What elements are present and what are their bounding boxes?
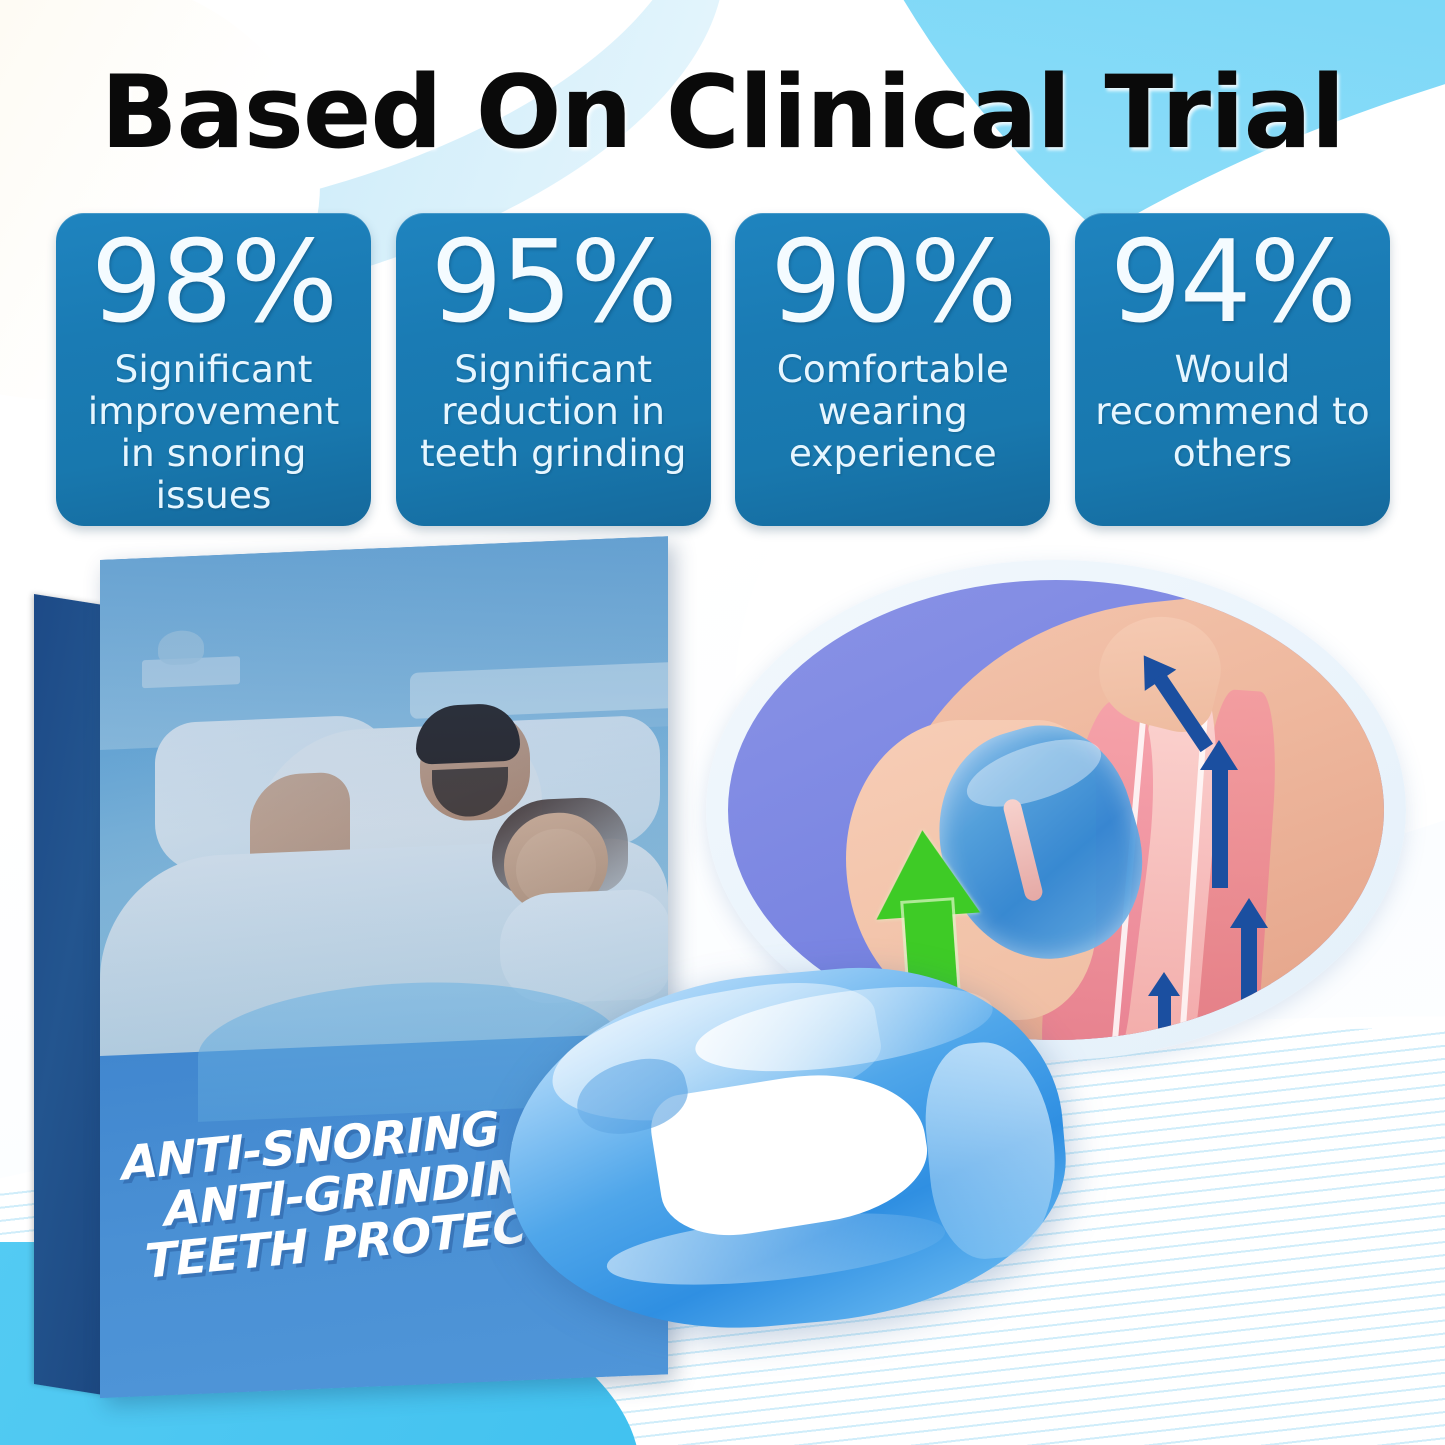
arrow-head bbox=[1200, 740, 1238, 770]
stat-card-comfort: 90% Comfortable wearing experience bbox=[735, 213, 1050, 526]
arrow-shaft bbox=[1158, 994, 1171, 1040]
stat-caption: Would recommend to others bbox=[1075, 348, 1390, 474]
promo-graphic: Based On Clinical Trial 98% Significant … bbox=[0, 0, 1445, 1445]
arrow-shaft bbox=[1212, 768, 1228, 888]
stat-card-recommend: 94% Would recommend to others bbox=[1075, 213, 1390, 526]
stat-percent: 90% bbox=[770, 225, 1015, 340]
page-title: Based On Clinical Trial bbox=[0, 62, 1445, 163]
stat-percent: 94% bbox=[1110, 225, 1355, 340]
product-mouthguard bbox=[498, 950, 1078, 1370]
arrow-shaft bbox=[1241, 924, 1257, 1040]
stat-card-grinding: 95% Significant reduction in teeth grind… bbox=[396, 213, 711, 526]
arrow-head bbox=[1148, 972, 1180, 996]
stat-caption: Significant improvement in snoring issue… bbox=[56, 348, 371, 516]
stat-caption: Comfortable wearing experience bbox=[735, 348, 1050, 474]
stat-card-snoring: 98% Significant improvement in snoring i… bbox=[56, 213, 371, 526]
stat-percent: 95% bbox=[431, 225, 676, 340]
stat-card-row: 98% Significant improvement in snoring i… bbox=[56, 213, 1390, 528]
stat-caption: Significant reduction in teeth grinding bbox=[396, 348, 711, 474]
stat-percent: 98% bbox=[91, 225, 336, 340]
